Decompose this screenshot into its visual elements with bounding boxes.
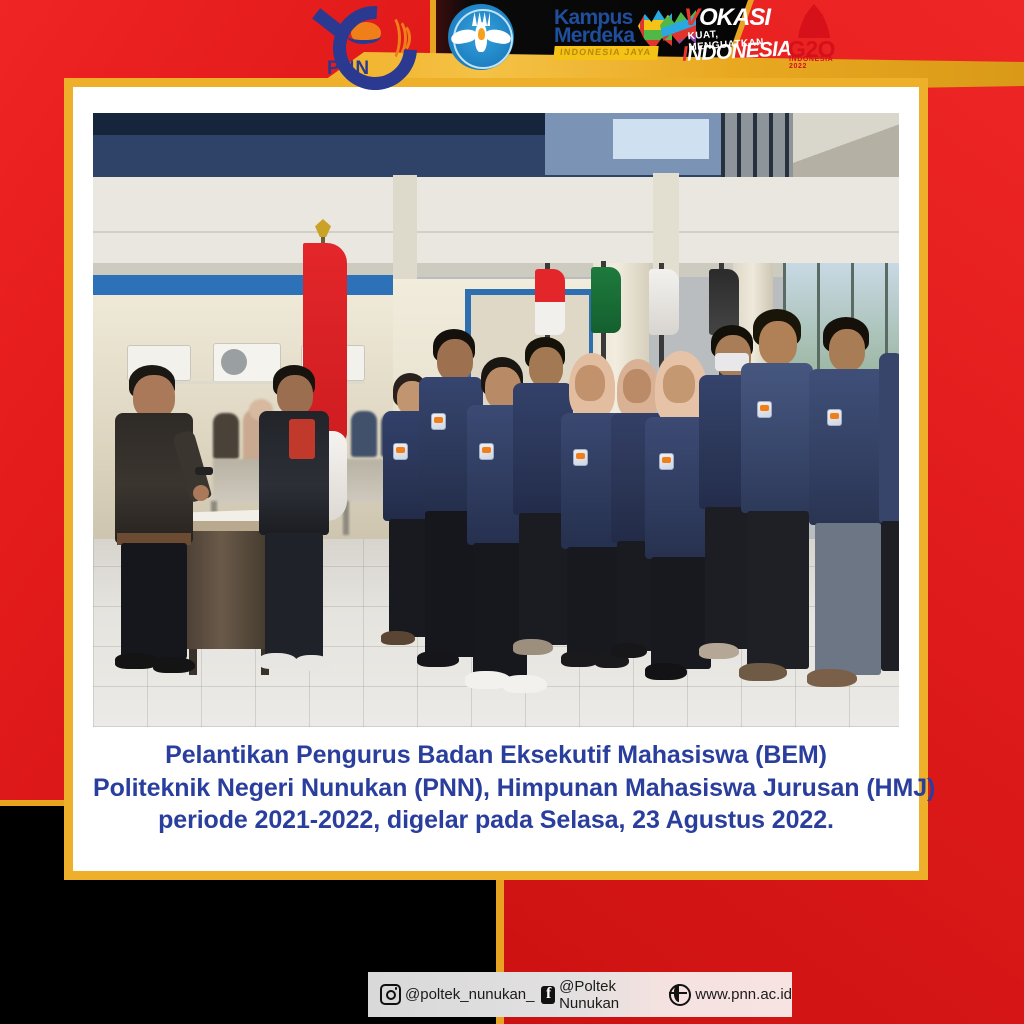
caption-line-2: Politeknik Negeri Nunukan (PNN), Himpuna… [93, 772, 899, 805]
pnn-bar-icon [312, 8, 344, 37]
photo-student-emblem [659, 453, 674, 470]
photo-official-hand [193, 485, 209, 501]
photo-student-emblem [573, 449, 588, 466]
photo-flagbearer-shoe [295, 655, 331, 671]
photo-small-flag-white [649, 269, 679, 335]
photo-microphone [195, 467, 213, 475]
photo-student-emblem [827, 409, 842, 426]
pnn-logo: PNN [305, 2, 425, 80]
photo-pillar-left [393, 175, 417, 279]
photo-ceiling-seam [93, 231, 899, 233]
kampus-merdeka-logo: Kampus Merdeka INDONESIA JAYA [550, 6, 668, 64]
facebook-item[interactable]: @Poltek Nunukan [541, 978, 658, 1012]
photo-student-head [529, 347, 563, 387]
facebook-handle: @Poltek Nunukan [559, 978, 657, 1012]
kem-flame-icon [478, 28, 485, 40]
caption-line-1: Pelantikan Pengurus Badan Eksekutif Maha… [93, 739, 899, 772]
pnn-logo-text: PNN [327, 58, 370, 80]
photo-student-shoe [417, 651, 459, 667]
kampus-merdeka-ribbon-text: INDONESIA JAYA [560, 47, 652, 57]
globe-icon [669, 984, 691, 1006]
kampus-merdeka-ribbon: INDONESIA JAYA [553, 46, 658, 60]
photo-student-head [437, 339, 473, 381]
photo-student-shoe [503, 675, 547, 693]
photo-seated-person [351, 411, 377, 457]
photo-ceiling [93, 177, 899, 273]
instagram-handle: @poltek_nunukan_ [405, 986, 535, 1003]
photo-student-shoe [739, 663, 787, 681]
photo-podium [187, 531, 273, 649]
photo-blue-wall-band [93, 275, 393, 295]
photo-student-emblem [431, 413, 446, 430]
photo-student-shoe [807, 669, 857, 687]
vokasi-line3: INDONESIA [681, 37, 792, 67]
photo-student-shoe [513, 639, 553, 655]
photo-student-head [663, 365, 695, 403]
tut-wuri-handayani-logo [448, 4, 514, 70]
vokasi-ndonesia-text: NDONESIA [686, 37, 792, 65]
photo-student-emblem [757, 401, 772, 418]
photo-student-shoe [645, 663, 687, 680]
vokasi-logo: VOKASI KUAT, MENGUATKAN INDONESIA [660, 4, 780, 68]
photo-ac-fan [221, 349, 247, 375]
caption-block: Pelantikan Pengurus Badan Eksekutif Maha… [93, 739, 899, 837]
photo-upper-window [613, 119, 709, 159]
g20-subtitle-year: 2022 [789, 63, 807, 70]
photo-small-flag-green [591, 267, 621, 333]
photo-student-blazer [879, 353, 899, 523]
photo-student-trousers [747, 511, 809, 669]
photo-student-blazer [809, 369, 885, 525]
caption-line-3: periode 2021-2022, digelar pada Selasa, … [93, 804, 899, 837]
facebook-icon [541, 986, 556, 1004]
photo-student-trousers [815, 523, 881, 675]
photo-student-head [759, 321, 797, 365]
photo-flagbearer-shoe [259, 653, 297, 669]
website-item[interactable]: www.pnn.ac.id [669, 984, 792, 1006]
g20-logo: G2O INDONESIA 2022 [784, 4, 846, 70]
vokasi-v-letter: V [684, 4, 699, 31]
photo-student-head [829, 329, 865, 371]
photo-student-trousers [881, 521, 899, 671]
social-footer-bar: @poltek_nunukan_ @Poltek Nunukan www.pnn… [368, 972, 792, 1017]
photo-student-shoe [381, 631, 415, 645]
photo-student-shoe [561, 651, 599, 667]
photo-pillar-right [653, 173, 679, 281]
photo-student-blazer [741, 363, 813, 513]
kampus-merdeka-line2: Merdeka [554, 24, 634, 48]
photo-flagbearer-badge [289, 419, 315, 459]
poster-root: PNN Kampus Merdeka INDONESIA JAYA VOKASI… [0, 0, 1024, 1024]
photo-staircase [793, 113, 899, 183]
g20-subtitle-country: INDONESIA [789, 56, 833, 63]
photo-flagbearer-trousers [265, 533, 323, 659]
pnn-swoosh-icon [347, 28, 381, 44]
photo-official-trousers [121, 543, 187, 659]
content-card: Pelantikan Pengurus Badan Eksekutif Maha… [73, 87, 919, 871]
photo-student-skirt [567, 547, 621, 657]
photo-student-head [623, 369, 651, 403]
website-url: www.pnn.ac.id [695, 986, 792, 1003]
g20-ornament-icon [798, 4, 830, 38]
photo-small-flag-indonesia [535, 269, 565, 335]
photo-student-head [575, 365, 605, 401]
photo-official-shoe [153, 657, 195, 673]
instagram-icon [380, 984, 401, 1005]
photo-student-shoe [699, 643, 739, 659]
photo-student-emblem [393, 443, 408, 460]
inauguration-ceremony-photo [93, 113, 899, 727]
instagram-item[interactable]: @poltek_nunukan_ [380, 984, 535, 1005]
photo-flagbearer-head [277, 375, 313, 415]
photo-student-shoe [611, 643, 647, 658]
photo-student-emblem [479, 443, 494, 460]
logo-bar: PNN Kampus Merdeka INDONESIA JAYA VOKASI… [0, 0, 1024, 80]
photo-seated-person [213, 413, 239, 459]
